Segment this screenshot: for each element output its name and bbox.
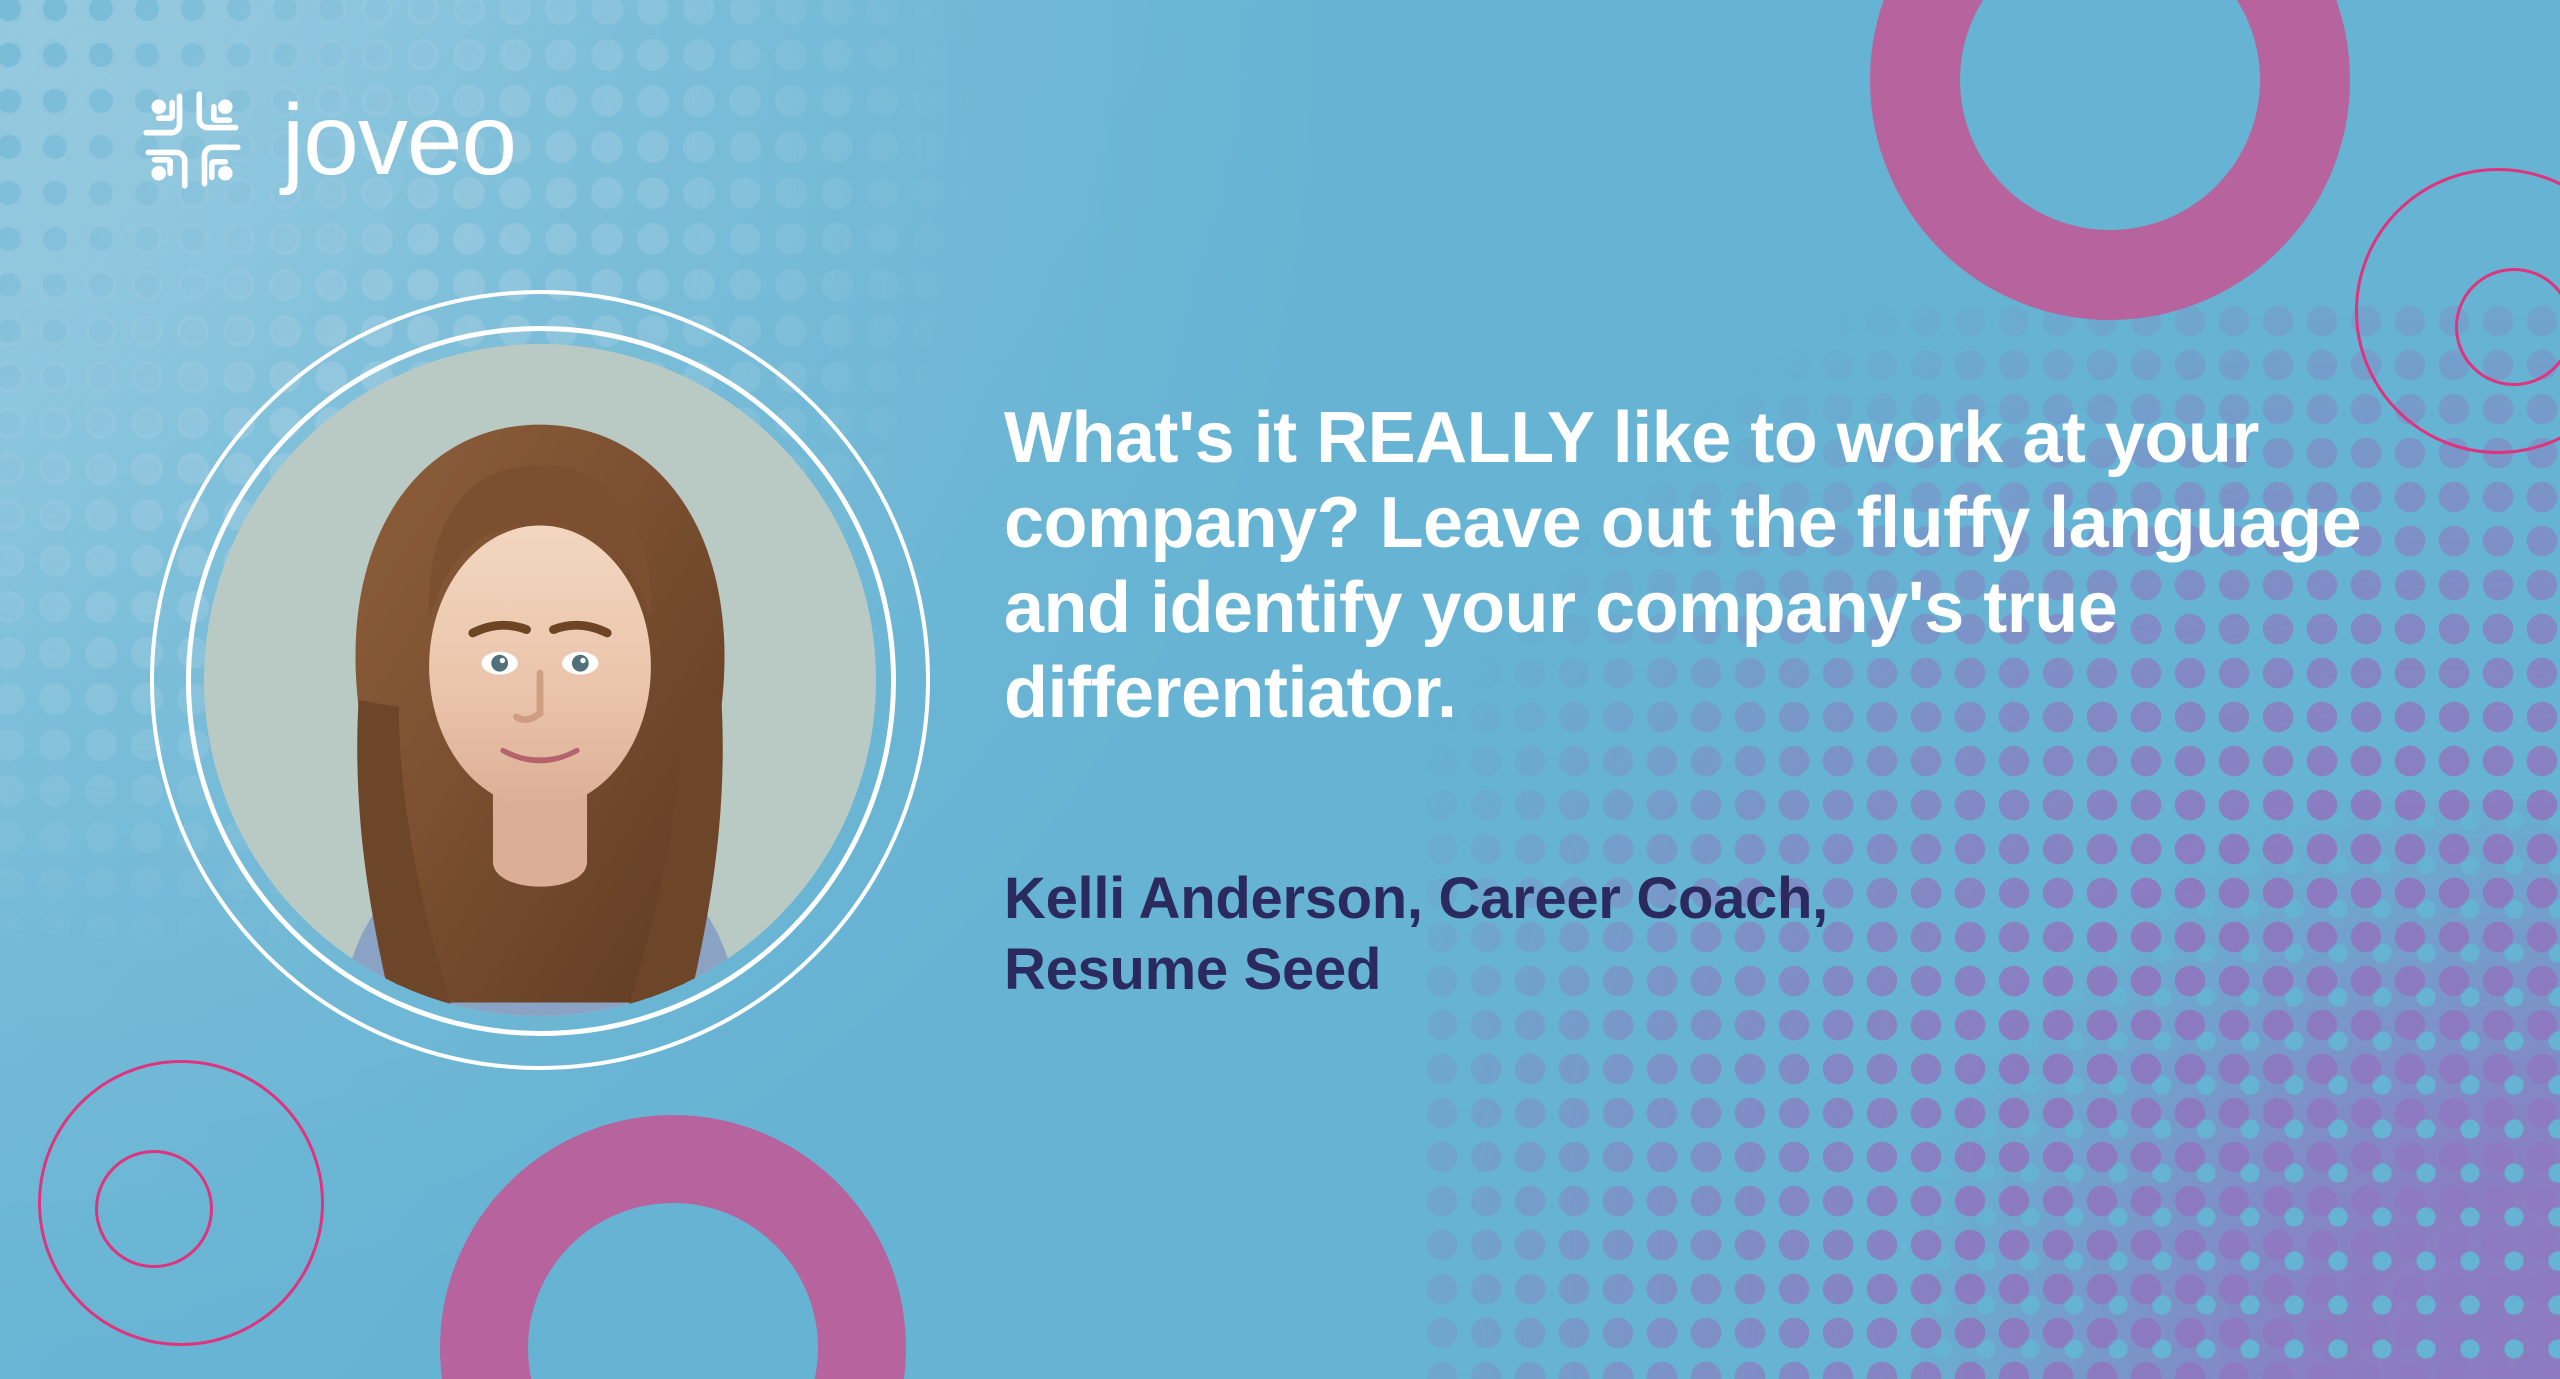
speaker-avatar (150, 290, 930, 1070)
pink-ring-inner-bottom-left-icon (95, 1150, 213, 1268)
avatar-photo (204, 344, 876, 1016)
quote-card: joveo (0, 0, 2560, 1379)
attribution-line-2: Resume Seed (1004, 937, 1381, 1002)
joveo-pinwheel-icon (140, 88, 244, 192)
quote-content: What's it REALLY like to work at your co… (1004, 396, 2424, 1005)
joveo-wordmark: joveo (282, 95, 516, 185)
quote-attribution: Kelli Anderson, Career Coach, Resume See… (1004, 864, 2424, 1006)
quote-headline: What's it REALLY like to work at your co… (1004, 396, 2424, 736)
joveo-logo[interactable]: joveo (140, 88, 516, 192)
attribution-line-1: Kelli Anderson, Career Coach, (1004, 866, 1828, 931)
